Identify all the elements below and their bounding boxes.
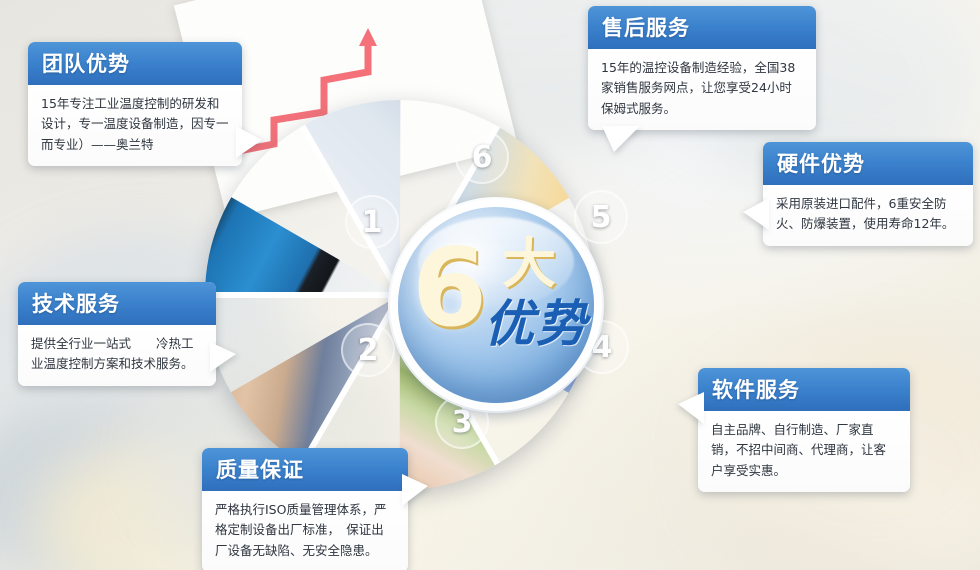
badge-number: 6 [412,235,487,343]
card-tail [210,342,236,372]
card-tail [678,392,704,424]
card-body-software: 自主品牌、自行制造、厂家直销，不招中间商、代理商，让客户享受实惠。 [698,411,910,492]
badge-big-char: 大 [502,237,556,291]
callout-card-team[interactable]: 团队优势 15年专注工业温度控制的研发和设计，专一温度设备制造，因专一而专业）—… [28,42,242,166]
card-title-technical: 技术服务 [18,282,216,325]
center-badge[interactable]: 6 大 优势 [398,207,594,403]
card-body-after-sales: 15年的温控设备制造经验，全国38家销售服务网点，让您享受24小时保姆式服务。 [588,49,816,130]
card-title-software: 软件服务 [698,368,910,411]
callout-card-hardware[interactable]: 硬件优势 采用原装进口配件，6重安全防火、防爆装置，使用寿命12年。 [763,142,973,246]
card-title-hardware: 硬件优势 [763,142,973,185]
callout-card-technical[interactable]: 技术服务 提供全行业一站式 冷热工业温度控制方案和技术服务。 [18,282,216,386]
wheel-number-2[interactable]: 2 [341,323,395,377]
card-tail [602,126,640,152]
card-body-hardware: 采用原装进口配件，6重安全防火、防爆装置，使用寿命12年。 [763,185,973,246]
infographic-canvas: 1 2 3 4 5 6 6 大 优势 团队优势 15年专注工业温度控制的研发和设… [0,0,980,570]
wheel-number-1[interactable]: 1 [345,195,399,249]
callout-card-after-sales[interactable]: 售后服务 15年的温控设备制造经验，全国38家销售服务网点，让您享受24小时保姆… [588,6,816,130]
card-title-after-sales: 售后服务 [588,6,816,49]
wheel-number-3[interactable]: 3 [435,395,489,449]
card-tail [402,474,428,506]
card-title-team: 团队优势 [28,42,242,85]
callout-card-quality[interactable]: 质量保证 严格执行ISO质量管理体系，严格定制设备出厂标准， 保证出厂设备无缺陷… [202,448,408,570]
card-tail [743,198,769,230]
card-body-quality: 严格执行ISO质量管理体系，严格定制设备出厂标准， 保证出厂设备无缺陷、无安全隐… [202,491,408,570]
card-body-team: 15年专注工业温度控制的研发和设计，专一温度设备制造，因专一而专业）——奥兰特 [28,85,242,166]
card-body-technical: 提供全行业一站式 冷热工业温度控制方案和技术服务。 [18,325,216,386]
card-title-quality: 质量保证 [202,448,408,491]
card-tail [236,126,262,158]
wheel-number-5[interactable]: 5 [574,190,628,244]
wheel-number-6[interactable]: 6 [455,130,509,184]
callout-card-software[interactable]: 软件服务 自主品牌、自行制造、厂家直销，不招中间商、代理商，让客户享受实惠。 [698,368,910,492]
wheel-divider [205,292,400,298]
badge-script-text: 优势 [484,299,588,349]
